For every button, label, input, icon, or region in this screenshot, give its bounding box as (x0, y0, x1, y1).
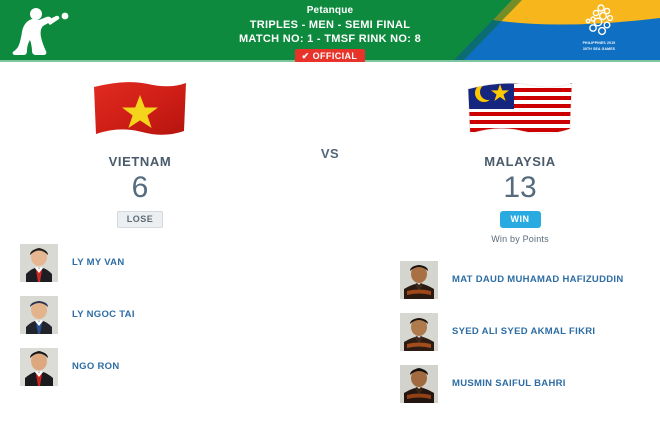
avatar (20, 348, 58, 386)
list-item[interactable]: LY NGOC TAI (20, 289, 260, 341)
list-item[interactable]: SYED ALI SYED AKMAL FIKRI (400, 306, 640, 358)
result-row-left: LOSE (20, 209, 260, 227)
win-reason: Win by Points (400, 234, 640, 244)
team-score-left: 6 (20, 171, 260, 205)
vietnam-flag-icon (20, 62, 260, 150)
status-badge-label: OFFICIAL (313, 51, 358, 61)
list-item[interactable]: MUSMIN SAIFUL BAHRI (400, 358, 640, 410)
avatar (20, 244, 58, 282)
result-row-right: WIN (400, 209, 640, 227)
avatar (400, 261, 438, 299)
result-badge-right: WIN (500, 211, 541, 228)
player-name: MUSMIN SAIFUL BAHRI (452, 378, 566, 390)
sea-games-logo: PHILIPPINES 2019 30TH SEA GAMES (556, 4, 642, 58)
player-name: MAT DAUD MUHAMAD HAFIZUDDIN (452, 274, 624, 286)
status-badge: ✔OFFICIAL (295, 49, 366, 62)
list-item[interactable]: MAT DAUD MUHAMAD HAFIZUDDIN (400, 254, 640, 306)
player-name: SYED ALI SYED AKMAL FIKRI (452, 326, 595, 338)
team-name-left: VIETNAM (20, 154, 260, 169)
player-name: LY NGOC TAI (72, 309, 135, 321)
list-item[interactable]: NGO RON (20, 341, 260, 393)
avatar (400, 365, 438, 403)
scoreboard: VS VIETNAM 6 LOSE (0, 62, 660, 431)
list-item[interactable]: LY MY VAN (20, 237, 260, 289)
player-name: LY MY VAN (72, 257, 125, 269)
team-name-right: MALAYSIA (400, 154, 640, 169)
avatar (400, 313, 438, 351)
player-list-left: LY MY VAN LY NGOC TAI (20, 237, 260, 393)
result-badge-left: LOSE (117, 211, 164, 228)
team-score-right: 13 (400, 171, 640, 205)
sea-games-logo-mark (569, 4, 629, 40)
team-panel-right: MALAYSIA 13 WIN Win by Points MAT DA (400, 62, 640, 410)
team-panel-left: VIETNAM 6 LOSE LY MY VAN (20, 62, 260, 393)
player-name: NGO RON (72, 361, 120, 373)
player-list-right: MAT DAUD MUHAMAD HAFIZUDDIN SYED ALI SYE… (400, 254, 640, 410)
check-icon: ✔ (302, 51, 310, 61)
logo-line-1: PHILIPPINES 2019 (556, 41, 642, 46)
logo-line-2: 30TH SEA GAMES (556, 47, 642, 52)
avatar (20, 296, 58, 334)
malaysia-flag-icon (400, 62, 640, 150)
match-header: Petanque TRIPLES - MEN - SEMI FINAL MATC… (0, 0, 660, 62)
